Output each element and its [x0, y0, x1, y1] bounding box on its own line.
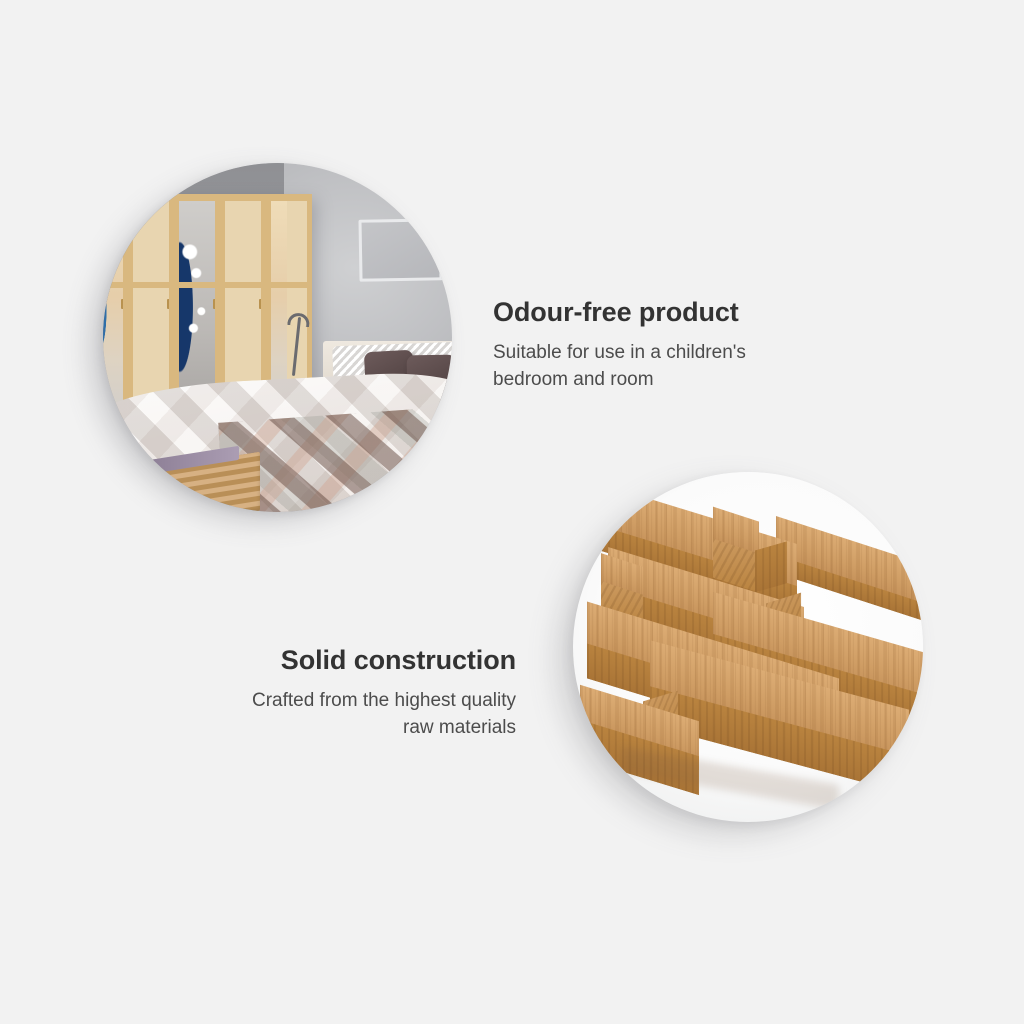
bedroom-photo-circle — [103, 163, 452, 512]
feature-panel-stage: Odour-free product Suitable for use in a… — [0, 0, 1024, 1024]
lumber-photo-circle — [573, 472, 923, 822]
feature-text-odour-free: Odour-free product Suitable for use in a… — [493, 298, 853, 394]
feature-subtitle-line-1: Crafted from the highest quality — [252, 690, 516, 711]
lumber-scene — [573, 472, 923, 822]
feature-subtitle-line-1: Suitable for use in a children's — [493, 342, 746, 363]
great-wave-artwork-segment — [103, 201, 123, 412]
feature-subtitle: Crafted from the highest qualityraw mate… — [156, 688, 516, 742]
feature-subtitle-line-2: bedroom and room — [493, 369, 654, 390]
wall-picture-frame — [358, 218, 442, 281]
divider-hinge-icon — [213, 299, 218, 309]
divider-hinge-icon — [259, 299, 264, 309]
great-wave-artwork-segment — [133, 201, 169, 412]
divider-panel-1 — [103, 194, 128, 417]
feature-subtitle-line-2: raw materials — [403, 717, 516, 738]
feature-text-solid-construction: Solid construction Crafted from the high… — [156, 646, 516, 742]
block-side-face — [755, 541, 787, 592]
great-wave-artwork-segment — [179, 201, 215, 412]
feature-title: Solid construction — [156, 646, 516, 676]
wood-block-side — [755, 541, 787, 592]
feature-subtitle: Suitable for use in a children'sbedroom … — [493, 340, 853, 394]
divider-hinge-icon — [121, 299, 126, 309]
feature-title: Odour-free product — [493, 298, 853, 328]
divider-hinge-icon — [167, 299, 172, 309]
bedroom-scene — [103, 163, 452, 512]
divider-panel-2 — [128, 194, 174, 417]
